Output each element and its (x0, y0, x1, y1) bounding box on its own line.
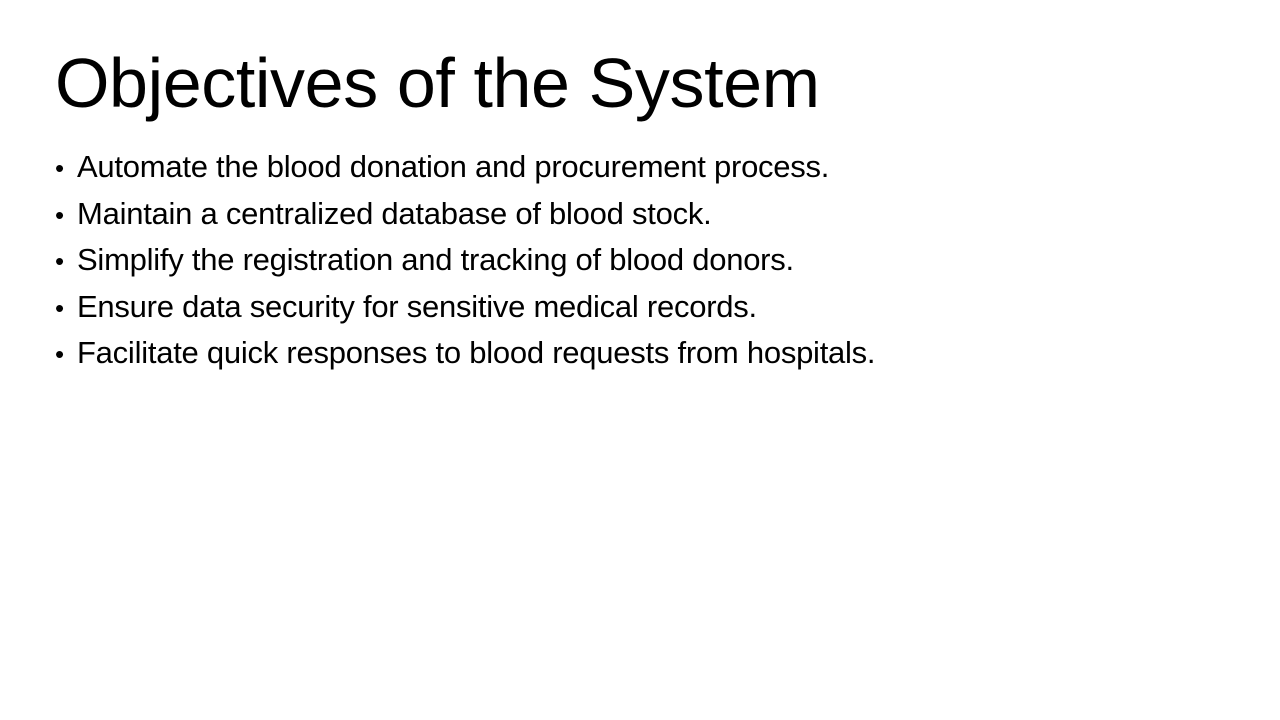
page-title: Objectives of the System (55, 48, 1155, 118)
list-item-label: Facilitate quick responses to blood requ… (77, 330, 875, 377)
list-item-label: Maintain a centralized database of blood… (77, 191, 711, 238)
list-item-label: Simplify the registration and tracking o… (77, 237, 794, 284)
list-item-label: Ensure data security for sensitive medic… (77, 284, 757, 331)
bullet-point-icon: • (55, 285, 77, 332)
bullet-point-icon: • (55, 192, 77, 239)
list-item: • Simplify the registration and tracking… (55, 237, 1215, 284)
list-item: • Maintain a centralized database of blo… (55, 191, 1215, 238)
objectives-bullet-list: • Automate the blood donation and procur… (55, 144, 1215, 377)
bullet-point-icon: • (55, 145, 77, 192)
list-item: • Automate the blood donation and procur… (55, 144, 1215, 191)
list-item: • Ensure data security for sensitive med… (55, 284, 1215, 331)
presentation-slide: Objectives of the System • Automate the … (0, 0, 1280, 720)
bullet-point-icon: • (55, 331, 77, 378)
list-item-label: Automate the blood donation and procurem… (77, 144, 829, 191)
bullet-point-icon: • (55, 238, 77, 285)
list-item: • Facilitate quick responses to blood re… (55, 330, 1215, 377)
